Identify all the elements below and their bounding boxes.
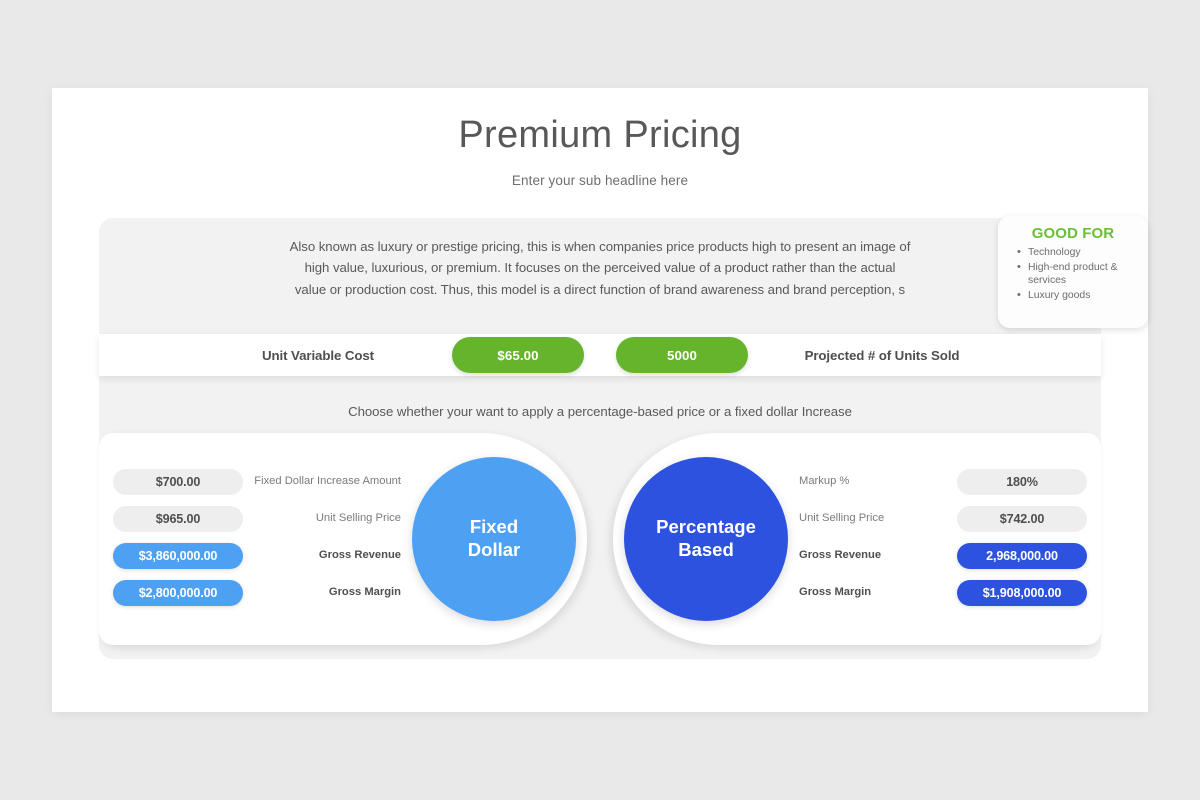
pct-unit-selling-price-label: Unit Selling Price bbox=[785, 512, 957, 526]
fixed-unit-selling-price-label: Unit Selling Price bbox=[243, 512, 415, 526]
good-for-list: • Technology • High-end product & servic… bbox=[1006, 246, 1140, 303]
list-item-label: Technology bbox=[1028, 247, 1081, 258]
fixed-increase-amount-value[interactable]: $700.00 bbox=[113, 469, 243, 495]
description-wrapper: Also known as luxury or prestige pricing… bbox=[99, 218, 947, 300]
good-for-title: GOOD FOR bbox=[1006, 225, 1140, 242]
projected-units-value[interactable]: 5000 bbox=[616, 337, 748, 373]
table-row: $965.00 Unit Selling Price bbox=[113, 500, 415, 537]
pct-gross-margin-value[interactable]: $1,908,000.00 bbox=[957, 580, 1087, 606]
projected-units-label: Projected # of Units Sold bbox=[748, 348, 1016, 363]
percentage-based-rows: Markup % 180% Unit Selling Price $742.00… bbox=[785, 463, 1087, 611]
bullet-icon: • bbox=[1017, 260, 1021, 275]
percentage-based-panel[interactable]: PercentageBased Markup % 180% Unit Selli… bbox=[613, 433, 1101, 645]
description-text: Also known as luxury or prestige pricing… bbox=[99, 236, 947, 300]
fixed-gross-revenue-label: Gross Revenue bbox=[243, 549, 415, 563]
fixed-dollar-badge[interactable]: FixedDollar bbox=[412, 457, 576, 621]
unit-variable-cost-value[interactable]: $65.00 bbox=[452, 337, 584, 373]
page-title: Premium Pricing bbox=[52, 115, 1148, 157]
table-row: Markup % 180% bbox=[785, 463, 1087, 500]
list-item: • Technology bbox=[1028, 246, 1138, 260]
fixed-dollar-badge-label: FixedDollar bbox=[468, 516, 520, 561]
pricing-option-panels: $700.00 Fixed Dollar Increase Amount $96… bbox=[99, 433, 1101, 645]
unit-variable-cost-label: Unit Variable Cost bbox=[184, 348, 452, 363]
list-item-label: Luxury goods bbox=[1028, 290, 1090, 301]
pct-gross-revenue-label: Gross Revenue bbox=[785, 549, 957, 563]
list-item: • Luxury goods bbox=[1028, 289, 1138, 303]
list-item: • High-end product & services bbox=[1028, 261, 1138, 288]
choose-instruction: Choose whether your want to apply a perc… bbox=[99, 376, 1101, 419]
fixed-dollar-panel[interactable]: $700.00 Fixed Dollar Increase Amount $96… bbox=[99, 433, 587, 645]
markup-percent-value[interactable]: 180% bbox=[957, 469, 1087, 495]
fixed-increase-amount-label: Fixed Dollar Increase Amount bbox=[243, 475, 415, 489]
percentage-based-badge[interactable]: PercentageBased bbox=[624, 457, 788, 621]
slide: Premium Pricing Enter your sub headline … bbox=[52, 88, 1148, 712]
table-row: $700.00 Fixed Dollar Increase Amount bbox=[113, 463, 415, 500]
table-row: Gross Margin $1,908,000.00 bbox=[785, 574, 1087, 611]
pct-unit-selling-price-value[interactable]: $742.00 bbox=[957, 506, 1087, 532]
percentage-based-badge-label: PercentageBased bbox=[656, 516, 756, 561]
table-row: $3,860,000.00 Gross Revenue bbox=[113, 537, 415, 574]
table-row: Gross Revenue 2,968,000.00 bbox=[785, 537, 1087, 574]
description-band: Also known as luxury or prestige pricing… bbox=[99, 218, 1101, 338]
page-subtitle: Enter your sub headline here bbox=[52, 173, 1148, 188]
table-row: $2,800,000.00 Gross Margin bbox=[113, 574, 415, 611]
list-item-label: High-end product & services bbox=[1028, 262, 1118, 287]
table-row: Unit Selling Price $742.00 bbox=[785, 500, 1087, 537]
slide-header: Premium Pricing Enter your sub headline … bbox=[52, 88, 1148, 188]
fixed-gross-margin-label: Gross Margin bbox=[243, 586, 415, 600]
pct-gross-revenue-value[interactable]: 2,968,000.00 bbox=[957, 543, 1087, 569]
fixed-dollar-rows: $700.00 Fixed Dollar Increase Amount $96… bbox=[113, 463, 415, 611]
fixed-gross-margin-value[interactable]: $2,800,000.00 bbox=[113, 580, 243, 606]
fixed-unit-selling-price-value[interactable]: $965.00 bbox=[113, 506, 243, 532]
markup-percent-label: Markup % bbox=[785, 475, 957, 489]
good-for-card: GOOD FOR • Technology • High-end product… bbox=[998, 216, 1148, 328]
bullet-icon: • bbox=[1017, 245, 1021, 260]
bullet-icon: • bbox=[1017, 288, 1021, 303]
pct-gross-margin-label: Gross Margin bbox=[785, 586, 957, 600]
unit-metrics-bar: Unit Variable Cost $65.00 5000 Projected… bbox=[99, 334, 1101, 376]
fixed-gross-revenue-value[interactable]: $3,860,000.00 bbox=[113, 543, 243, 569]
